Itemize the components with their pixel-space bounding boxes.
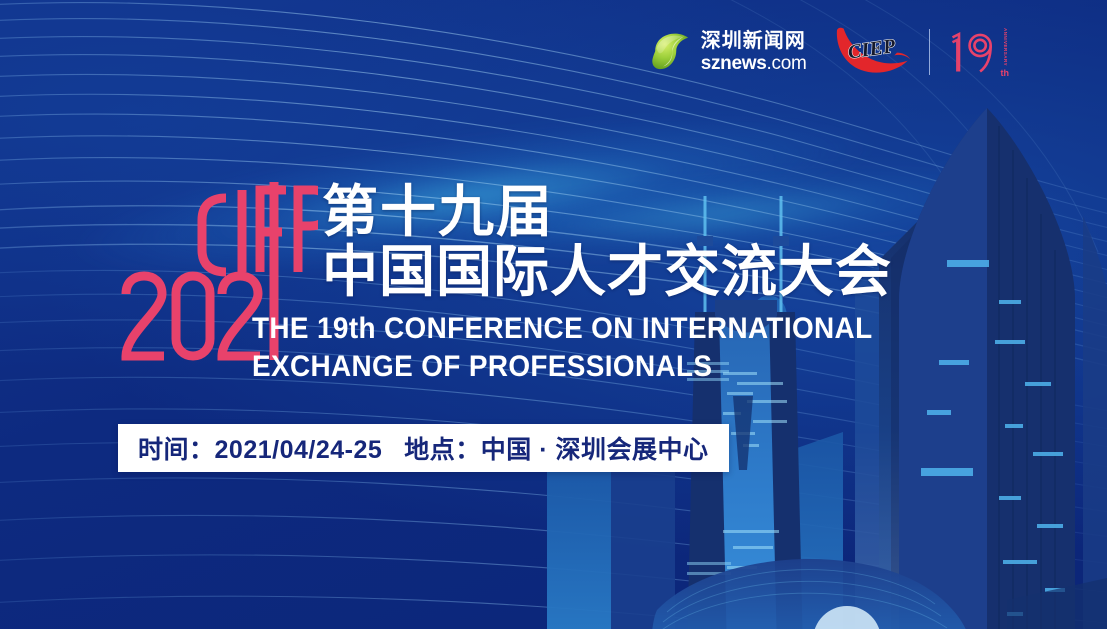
partner-logos-row: 深圳新闻网 sznews.com CIEP (650, 22, 1009, 82)
conference-title-english: THE 19th CONFERENCE ON INTERNATIONAL EXC… (252, 310, 912, 387)
event-time: 时间：2021/04/24-25 (138, 430, 382, 466)
sznews-domain-suffix: .com (767, 53, 807, 74)
sznews-cn-name: 深圳新闻网 (701, 31, 807, 51)
ciep-logo-group[interactable]: CIEP ANNIVERSARY (833, 26, 1010, 78)
time-label: 时间： (138, 436, 215, 464)
sznews-logo[interactable]: 深圳新闻网 sznews.com (650, 31, 807, 73)
sznews-domain: sznews.com (701, 54, 807, 73)
ciep-wordmark-text: CIEP (846, 35, 897, 64)
anniversary-19-outline-icon (946, 26, 998, 78)
title-en-line-1: THE 19th CONFERENCE ON INTERNATIONAL (252, 310, 866, 348)
anniversary-ordinal: th (1001, 69, 1010, 78)
anniversary-vertical-text: ANNIVERSARY (1001, 28, 1008, 66)
title-cn-line-1: 第十九届 (322, 182, 922, 242)
time-value: 2021/04/24-25 (215, 436, 383, 464)
title-en-line-2: EXCHANGE OF PROFESSIONALS (252, 348, 866, 386)
place-label: 地点： (404, 436, 481, 464)
ciep-conference-banner: 深圳新闻网 sznews.com CIEP (0, 0, 1107, 629)
sznews-domain-main: sznews (701, 53, 767, 74)
place-value: 中国 · 深圳会展中心 (481, 436, 709, 464)
logo-divider (929, 29, 930, 75)
ciep-red-bowl-icon: CIEP (833, 26, 913, 78)
event-info-bar: 时间：2021/04/24-25 地点：中国 · 深圳会展中心 (118, 424, 729, 472)
title-cn-line-2: 中国国际人才交流大会 (322, 242, 922, 302)
anniversary-side-text: ANNIVERSARY th (1001, 26, 1010, 78)
event-place: 地点：中国 · 深圳会展中心 (404, 430, 708, 466)
conference-title-chinese: 第十九届 中国国际人才交流大会 (322, 182, 922, 303)
green-leaf-swirl-icon (650, 31, 692, 73)
anniversary-mark: ANNIVERSARY th (946, 26, 1010, 78)
